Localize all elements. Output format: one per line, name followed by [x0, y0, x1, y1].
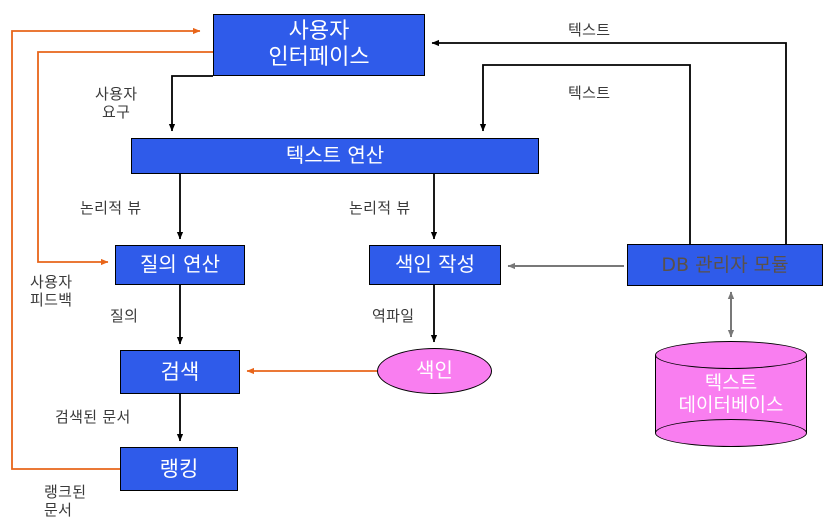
edge-label-ranked-docs: 랭크된 문서: [44, 483, 86, 520]
node-text-operations[interactable]: 텍스트 연산: [131, 138, 539, 174]
node-index-building-label: 색인 작성: [395, 253, 475, 277]
diagram-canvas: 사용자 인터페이스 텍스트 연산 질의 연산 색인 작성 DB 관리자 모듈 검…: [0, 0, 831, 527]
node-index-label: 색인: [416, 359, 453, 383]
edge-label-query: 질의: [110, 307, 138, 325]
node-user-interface-label: 사용자 인터페이스: [268, 19, 369, 71]
node-user-interface[interactable]: 사용자 인터페이스: [213, 14, 425, 76]
node-query-operations[interactable]: 질의 연산: [115, 245, 245, 285]
node-index-building[interactable]: 색인 작성: [369, 245, 501, 285]
node-text-operations-label: 텍스트 연산: [286, 144, 384, 168]
node-db-manager-label: DB 관리자 모듈: [661, 254, 788, 276]
node-text-database[interactable]: 텍스트 데이터베이스: [655, 341, 807, 447]
edge-label-text-top: 텍스트: [568, 21, 610, 39]
edge-label-retrieved-docs: 검색된 문서: [55, 408, 131, 426]
node-ranking[interactable]: 랭킹: [120, 447, 238, 491]
cylinder-top-ellipse: [655, 341, 807, 369]
edge-ui-to-text-ops: [172, 76, 213, 131]
edge-label-logical-view-left: 논리적 뷰: [80, 199, 141, 217]
node-search-label: 검색: [161, 360, 200, 385]
edge-label-user-feedback: 사용자 피드백: [30, 273, 72, 310]
edge-label-inverted-file: 역파일: [372, 307, 414, 325]
cylinder-bottom-ellipse: [655, 419, 807, 447]
node-search[interactable]: 검색: [120, 350, 240, 394]
node-ranking-label: 랭킹: [160, 457, 199, 482]
node-index[interactable]: 색인: [377, 348, 492, 394]
node-text-database-label: 텍스트 데이터베이스: [655, 372, 807, 417]
node-query-operations-label: 질의 연산: [140, 253, 220, 277]
edge-label-text-mid: 텍스트: [568, 84, 610, 102]
edge-label-logical-view-right: 논리적 뷰: [349, 199, 410, 217]
node-db-manager[interactable]: DB 관리자 모듈: [627, 244, 823, 286]
edge-label-user-request: 사용자 요구: [95, 85, 137, 122]
